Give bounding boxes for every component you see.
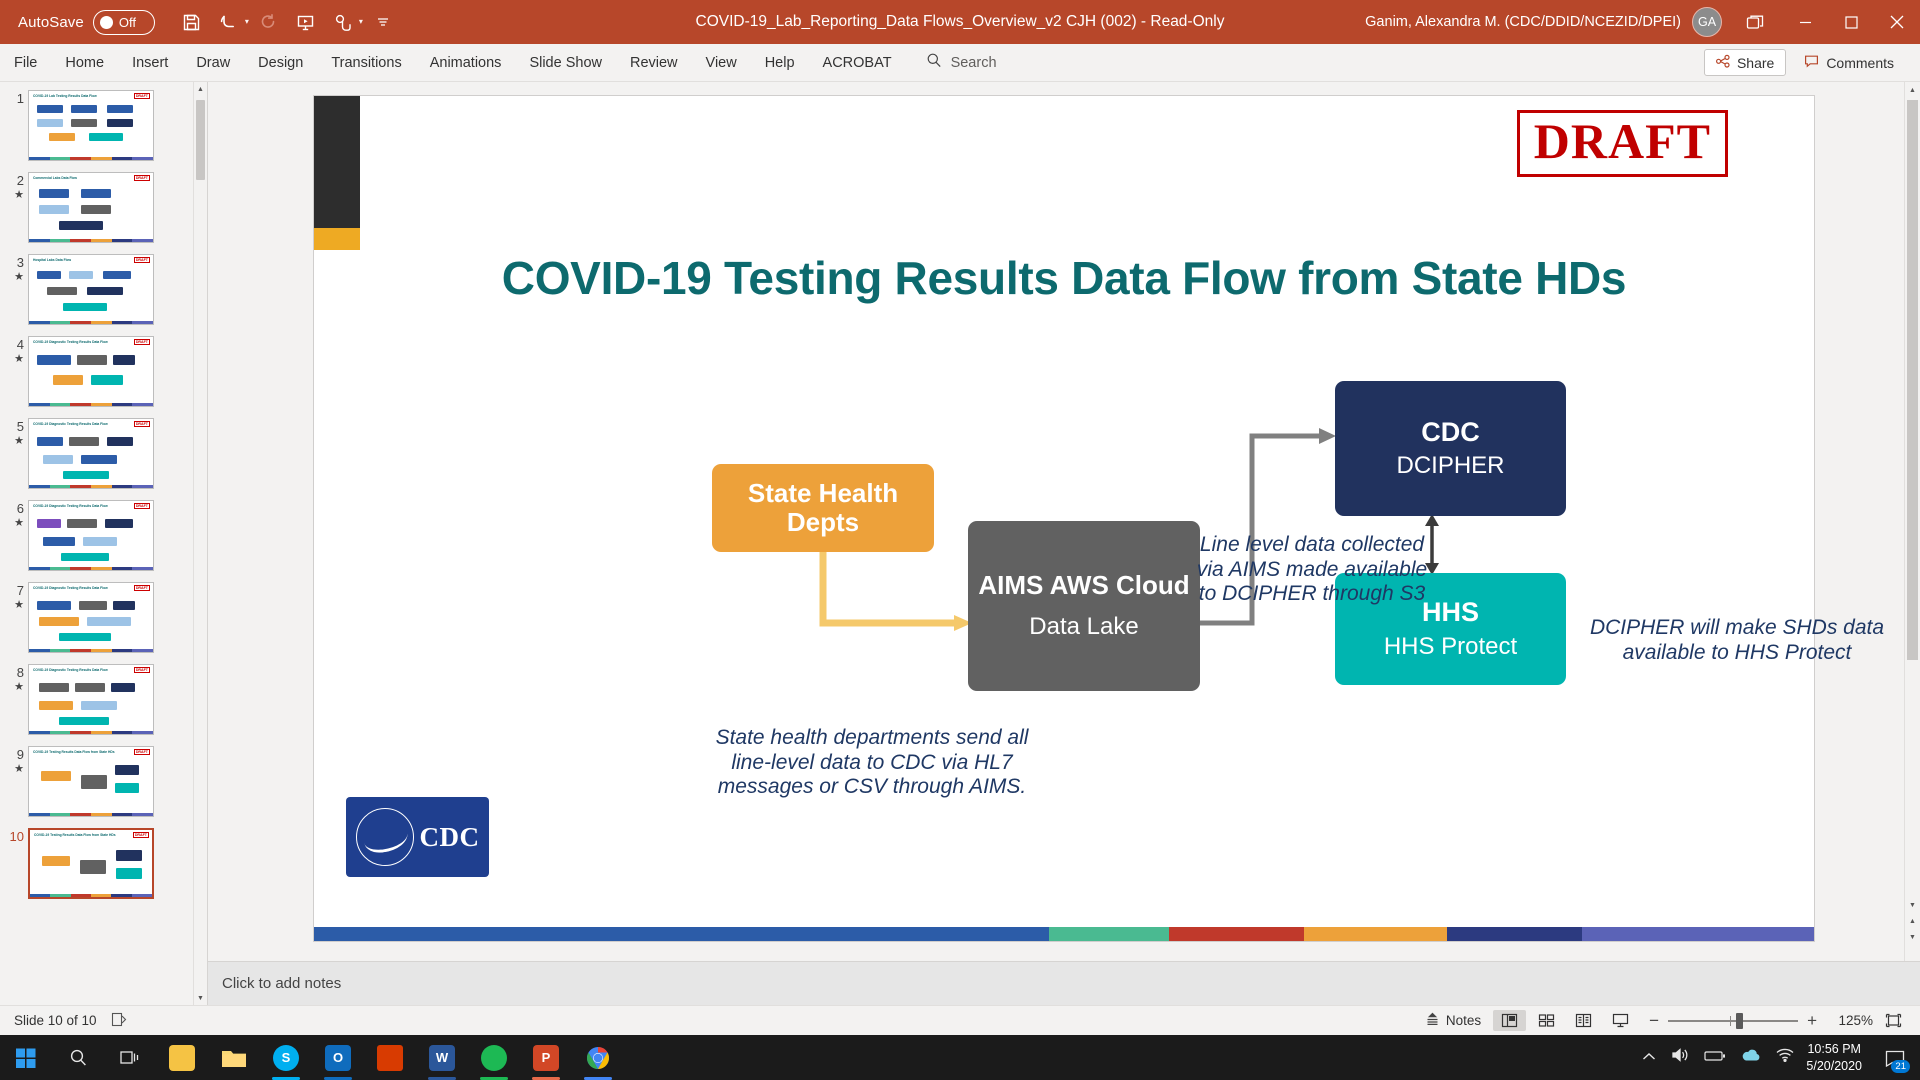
slide-thumbnail-1[interactable]: 1 COVID-19 Lab Testing Results Data Flow… — [0, 90, 193, 161]
tab-design[interactable]: Design — [244, 44, 317, 82]
thumb-draft-stamp: DRAFT — [134, 667, 150, 673]
thumb-draft-stamp: DRAFT — [134, 585, 150, 591]
thumb-draft-stamp: DRAFT — [134, 421, 150, 427]
status-right: Notes — [1417, 1009, 1920, 1032]
volume-icon[interactable] — [1671, 1047, 1689, 1068]
notes-placeholder: Click to add notes — [222, 975, 341, 992]
skype-app[interactable]: S — [260, 1035, 312, 1080]
slide-canvas-wrap: DRAFT COVID-19 Testing Results Data Flow… — [208, 82, 1920, 961]
tab-transitions[interactable]: Transitions — [317, 44, 415, 82]
thumb-draft-stamp: DRAFT — [134, 175, 150, 181]
tab-animations[interactable]: Animations — [416, 44, 516, 82]
animation-star-icon: ★ — [4, 763, 24, 776]
thumb-number: 5 — [17, 419, 24, 434]
thumb-title: Hospital Labs Data Flow — [33, 258, 71, 262]
powerpoint-app[interactable]: P — [520, 1035, 572, 1080]
window-controls — [1728, 0, 1920, 44]
animation-star-icon: ★ — [4, 435, 24, 448]
autosave-label: AutoSave — [18, 14, 84, 31]
workspace: 1 COVID-19 Lab Testing Results Data Flow… — [0, 82, 1920, 1005]
tab-review[interactable]: Review — [616, 44, 692, 82]
zoom-in-button[interactable]: + — [1807, 1012, 1817, 1029]
thumb-number: 10 — [10, 829, 24, 844]
thumb-canvas[interactable]: Commercial Labs Data Flow DRAFT — [28, 172, 154, 243]
chrome-app[interactable] — [572, 1035, 624, 1080]
node-title: CDC — [1421, 417, 1480, 447]
thumb-canvas[interactable]: Hospital Labs Data Flow DRAFT — [28, 254, 154, 325]
slide-thumbnail-9[interactable]: 9★ COVID-19 Testing Results Data Flow fr… — [0, 746, 193, 817]
account-name: Ganim, Alexandra M. (CDC/DDID/NCEZID/DPE… — [1365, 14, 1681, 30]
ribbon-tabs: File Home Insert Draw Design Transitions… — [0, 44, 906, 81]
tab-acrobat[interactable]: ACROBAT — [809, 44, 906, 82]
thumbnail-scrollbar[interactable]: ▲ ▼ — [193, 82, 207, 1005]
thumb-number: 7 — [17, 583, 24, 598]
animation-star-icon: ★ — [4, 189, 24, 202]
close-icon[interactable] — [1874, 0, 1920, 44]
search-box[interactable]: Search — [926, 44, 1186, 81]
touch-mode-button[interactable] — [326, 6, 360, 38]
annotation-dcipher-to-hhs[interactable]: DCIPHER will make SHDs data available to… — [1582, 616, 1892, 665]
thumb-title: COVID-19 Testing Results Data Flow from … — [34, 833, 116, 837]
zoom-track[interactable] — [1668, 1020, 1798, 1022]
thumb-draft-stamp: DRAFT — [134, 749, 150, 755]
animation-star-icon: ★ — [4, 353, 24, 366]
notes-icon — [1425, 1012, 1440, 1029]
skype-icon: S — [273, 1045, 299, 1071]
tab-view[interactable]: View — [692, 44, 751, 82]
slide-bottom-color-band — [314, 927, 1814, 941]
touch-mode-dropdown-icon[interactable]: ▾ — [359, 18, 363, 26]
toggle-knob — [100, 16, 113, 29]
thumb-canvas[interactable]: COVID-19 Testing Results Data Flow from … — [28, 746, 154, 817]
scroll-up-icon[interactable]: ▲ — [1909, 82, 1916, 98]
word-icon: W — [429, 1045, 455, 1071]
tab-help[interactable]: Help — [751, 44, 809, 82]
node-subtitle: HHS Protect — [1384, 634, 1517, 661]
node-title: AIMS AWS Cloud — [978, 571, 1189, 600]
thumb-title: COVID-19 Diagnostic Testing Results Data… — [33, 340, 108, 344]
slide-sorter-icon[interactable] — [1530, 1010, 1563, 1031]
start-presentation-button[interactable] — [289, 6, 323, 38]
notification-center-button[interactable]: 21 — [1878, 1035, 1912, 1080]
clock-date: 5/20/2020 — [1806, 1058, 1862, 1075]
file-explorer-app[interactable] — [208, 1035, 260, 1080]
notes-pane[interactable]: Click to add notes — [208, 961, 1920, 1005]
zoom-out-button[interactable]: − — [1649, 1012, 1659, 1029]
slide-thumbnail-2[interactable]: 2★ Commercial Labs Data Flow DRAFT — [0, 172, 193, 243]
tray-icon-group — [1642, 1047, 1794, 1068]
slide-thumbnail-4[interactable]: 4★ COVID-19 Diagnostic Testing Results D… — [0, 336, 193, 407]
zoom-knob[interactable] — [1736, 1013, 1743, 1029]
zoom-default-tick — [1730, 1016, 1731, 1026]
annotation-aims-to-dcipher[interactable]: Line level data collected via AIMS made … — [1192, 533, 1432, 607]
office-app[interactable] — [364, 1035, 416, 1080]
notes-label: Notes — [1446, 1013, 1481, 1028]
autosave-state: Off — [119, 15, 136, 30]
zoom-slider[interactable]: − + — [1641, 1012, 1825, 1029]
comments-label: Comments — [1826, 55, 1894, 71]
annotation-shd-to-aims[interactable]: State health departments send all line-l… — [707, 726, 1037, 800]
node-title: State Health Depts — [712, 479, 934, 537]
slide-show-icon[interactable] — [1604, 1010, 1637, 1031]
node-subtitle: DCIPHER — [1396, 453, 1504, 480]
thumb-title: COVID-19 Lab Testing Results Data Flow — [33, 94, 97, 98]
network-icon[interactable] — [1776, 1048, 1794, 1067]
thumb-number: 1 — [17, 91, 24, 106]
word-app[interactable]: W — [416, 1035, 468, 1080]
tab-slide-show[interactable]: Slide Show — [515, 44, 616, 82]
slide-thumbnail-list: 1 COVID-19 Lab Testing Results Data Flow… — [0, 82, 193, 1005]
slide-thumbnail-pane: 1 COVID-19 Lab Testing Results Data Flow… — [0, 82, 208, 1005]
thumb-draft-stamp: DRAFT — [134, 503, 150, 509]
status-bar: Slide 10 of 10 Notes — [0, 1005, 1920, 1035]
comments-button[interactable]: Comments — [1792, 49, 1906, 76]
task-view-button[interactable] — [104, 1035, 156, 1080]
taskbar-search-button[interactable] — [52, 1035, 104, 1080]
share-label: Share — [1737, 55, 1774, 71]
slide-canvas[interactable]: DRAFT COVID-19 Testing Results Data Flow… — [314, 96, 1814, 941]
tab-draw[interactable]: Draw — [182, 44, 244, 82]
scroll-down-icon[interactable]: ▼ — [1905, 897, 1920, 913]
restore-down-icon[interactable] — [1728, 0, 1782, 44]
sticky-notes-app[interactable] — [156, 1035, 208, 1080]
battery-icon[interactable] — [1704, 1049, 1726, 1067]
scrollbar-thumb[interactable] — [196, 100, 205, 180]
tab-home[interactable]: Home — [51, 44, 118, 82]
thumb-canvas[interactable]: COVID-19 Diagnostic Testing Results Data… — [28, 582, 154, 653]
thumb-title: COVID-19 Diagnostic Testing Results Data… — [33, 504, 108, 508]
diagram-connectors — [314, 96, 1814, 941]
ribbon-tab-bar: File Home Insert Draw Design Transitions… — [0, 44, 1920, 82]
thumb-draft-stamp: DRAFT — [134, 257, 150, 263]
comment-icon — [1804, 54, 1819, 71]
thumb-canvas[interactable]: COVID-19 Lab Testing Results Data Flow D… — [28, 90, 154, 161]
hhs-seal-icon — [356, 808, 414, 866]
animation-star-icon: ★ — [4, 681, 24, 694]
normal-view-icon[interactable] — [1493, 1010, 1526, 1031]
minimize-icon[interactable] — [1782, 0, 1828, 44]
taskbar-items: S O W P — [0, 1035, 624, 1080]
slide-thumbnail-10[interactable]: 10 COVID-19 Testing Results Data Flow fr… — [0, 828, 193, 899]
customize-quick-access-toolbar[interactable] — [366, 6, 400, 38]
thumb-title: COVID-19 Diagnostic Testing Results Data… — [33, 668, 108, 672]
status-left: Slide 10 of 10 — [0, 1012, 127, 1030]
system-tray: 10:56 PM 5/20/2020 21 — [1642, 1035, 1920, 1080]
animation-star-icon: ★ — [4, 271, 24, 284]
zoom-percentage[interactable]: 125% — [1829, 1013, 1873, 1028]
autosave-toggle[interactable]: Off — [93, 10, 155, 35]
accessibility-checker-icon[interactable] — [111, 1012, 127, 1030]
reading-view-icon[interactable] — [1567, 1010, 1600, 1031]
thumb-title: COVID-19 Diagnostic Testing Results Data… — [33, 586, 108, 590]
thumb-draft-stamp: DRAFT — [134, 339, 150, 345]
fit-slide-to-window-icon[interactable] — [1877, 1010, 1910, 1031]
taskbar-clock[interactable]: 10:56 PM 5/20/2020 — [1806, 1041, 1866, 1075]
animation-star-icon: ★ — [4, 599, 24, 612]
maximize-icon[interactable] — [1828, 0, 1874, 44]
windows-taskbar: S O W P — [0, 1035, 1920, 1080]
powerpoint-icon: P — [533, 1045, 559, 1071]
onedrive-icon[interactable] — [1741, 1049, 1761, 1067]
slide-thumbnail-8[interactable]: 8★ COVID-19 Diagnostic Testing Results D… — [0, 664, 193, 735]
slide-thumbnail-3[interactable]: 3★ Hospital Labs Data Flow DRAFT — [0, 254, 193, 325]
thumb-title: COVID-19 Diagnostic Testing Results Data… — [33, 422, 108, 426]
slide-thumbnail-5[interactable]: 5★ COVID-19 Diagnostic Testing Results D… — [0, 418, 193, 489]
thumb-number: 9 — [17, 747, 24, 762]
next-slide-icon[interactable]: ▼ — [1905, 929, 1920, 945]
data-flow-diagram: State Health Depts AIMS AWS Cloud Data L… — [314, 96, 1814, 941]
spotify-app[interactable] — [468, 1035, 520, 1080]
thumb-number: 4 — [17, 337, 24, 352]
tab-file[interactable]: File — [0, 44, 51, 82]
thumb-title: COVID-19 Testing Results Data Flow from … — [33, 750, 115, 754]
save-button[interactable] — [175, 6, 209, 38]
outlook-icon: O — [325, 1045, 351, 1071]
notes-button[interactable]: Notes — [1417, 1009, 1489, 1032]
thumb-draft-stamp: DRAFT — [134, 93, 150, 99]
cdc-wordmark: CDC — [420, 822, 480, 853]
outlook-app[interactable]: O — [312, 1035, 364, 1080]
title-bar: AutoSave Off ▾ — [0, 0, 1920, 44]
node-state-health-depts[interactable]: State Health Depts — [712, 464, 934, 552]
share-icon — [1716, 54, 1730, 71]
slide-counter[interactable]: Slide 10 of 10 — [14, 1013, 97, 1028]
slide-thumbnail-6[interactable]: 6★ COVID-19 Diagnostic Testing Results D… — [0, 500, 193, 571]
thumb-canvas[interactable]: COVID-19 Diagnostic Testing Results Data… — [28, 418, 154, 489]
thumb-title: Commercial Labs Data Flow — [33, 176, 77, 180]
scrollbar-thumb[interactable] — [1907, 100, 1918, 660]
thumb-number: 3 — [17, 255, 24, 270]
account-area[interactable]: Ganim, Alexandra M. (CDC/DDID/NCEZID/DPE… — [1365, 7, 1728, 37]
thumb-number: 6 — [17, 501, 24, 516]
notification-badge: 21 — [1891, 1060, 1910, 1073]
previous-slide-icon[interactable]: ▲ — [1905, 913, 1920, 929]
quick-access-toolbar: ▾ ▾ — [175, 6, 400, 38]
start-button[interactable] — [0, 1035, 52, 1080]
node-cdc-dcipher[interactable]: CDC DCIPHER — [1335, 381, 1566, 516]
slide-vertical-scrollbar[interactable]: ▲ ▼ ▲ ▼ — [1904, 82, 1920, 961]
thumb-number: 8 — [17, 665, 24, 680]
scroll-down-icon[interactable]: ▼ — [194, 991, 207, 1005]
thumb-canvas[interactable]: COVID-19 Testing Results Data Flow from … — [28, 828, 154, 899]
node-subtitle: Data Lake — [1029, 614, 1138, 641]
slide-thumbnail-7[interactable]: 7★ COVID-19 Diagnostic Testing Results D… — [0, 582, 193, 653]
search-icon — [926, 52, 942, 73]
ribbon-right-actions: Share Comments — [1704, 44, 1920, 81]
thumb-draft-stamp: DRAFT — [133, 832, 149, 838]
avatar[interactable]: GA — [1692, 7, 1722, 37]
undo-button[interactable] — [212, 6, 246, 38]
share-button[interactable]: Share — [1704, 49, 1786, 76]
animation-star-icon: ★ — [4, 517, 24, 530]
search-placeholder: Search — [951, 55, 997, 71]
slide-editing-area: DRAFT COVID-19 Testing Results Data Flow… — [208, 82, 1920, 1005]
cdc-hhs-logo: CDC — [346, 797, 489, 877]
thumb-canvas[interactable]: COVID-19 Diagnostic Testing Results Data… — [28, 664, 154, 735]
thumb-canvas[interactable]: COVID-19 Diagnostic Testing Results Data… — [28, 336, 154, 407]
show-hidden-icons-icon[interactable] — [1642, 1049, 1656, 1067]
powerpoint-window: AutoSave Off ▾ — [0, 0, 1920, 1080]
clock-time: 10:56 PM — [1806, 1041, 1862, 1058]
tab-insert[interactable]: Insert — [118, 44, 182, 82]
thumb-canvas[interactable]: COVID-19 Diagnostic Testing Results Data… — [28, 500, 154, 571]
autosave-control[interactable]: AutoSave Off — [0, 10, 155, 35]
node-aims-aws-cloud[interactable]: AIMS AWS Cloud Data Lake — [968, 521, 1200, 691]
redo-button[interactable] — [252, 6, 286, 38]
scroll-up-icon[interactable]: ▲ — [194, 82, 207, 96]
thumb-number: 2 — [17, 173, 24, 188]
undo-dropdown-icon[interactable]: ▾ — [245, 18, 249, 26]
